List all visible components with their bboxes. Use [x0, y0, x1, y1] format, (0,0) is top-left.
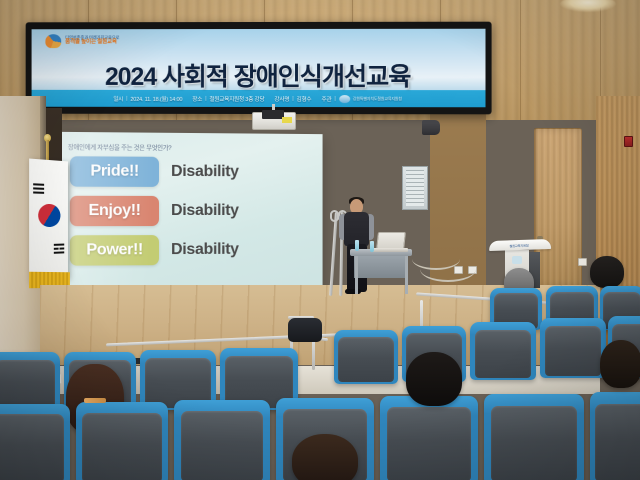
seat[interactable]	[590, 392, 640, 480]
audience-head	[406, 352, 462, 406]
logo-line-2: 품격을 높이는 철원교육	[65, 40, 119, 46]
presenter-shoes	[345, 289, 361, 294]
banner-footer-label-3: 주관	[321, 95, 331, 103]
banner-footer: 일시 | 2024. 11. 18.(월) 14:00 장소 | 철원교육지원청…	[32, 90, 486, 107]
slide-pill-enjoy: Enjoy!!	[70, 196, 159, 226]
banner-sep: |	[205, 95, 206, 101]
table-leg	[355, 256, 358, 294]
banner-screen: 다양성존중과 미래가치교육으로 품격을 높이는 철원교육 2024 사회적 장애…	[32, 29, 486, 108]
table-leg	[405, 256, 408, 294]
floor-bag	[288, 318, 322, 342]
wall-outlet	[578, 258, 587, 266]
education-office-logo-icon	[45, 34, 61, 48]
table-panel	[354, 256, 408, 278]
taegukgi-flag	[29, 159, 68, 282]
auditorium-photo: 다양성존중과 미래가치교육으로 품격을 높이는 철원교육 2024 사회적 장애…	[0, 0, 640, 480]
seat[interactable]	[0, 404, 70, 480]
organizer-logo-icon	[339, 95, 350, 103]
slide-pill-pride: Pride!!	[70, 156, 159, 187]
banner-footer-label-1: 장소	[192, 94, 202, 102]
slide-row: Enjoy!! Disability	[70, 196, 315, 226]
taeguk-symbol-icon	[34, 200, 64, 231]
audience-head	[292, 434, 358, 480]
crutch-left	[329, 212, 338, 296]
water-bottle	[355, 240, 359, 251]
audience-head	[600, 340, 640, 388]
power-cable	[420, 256, 476, 282]
audience-head	[590, 256, 624, 288]
seat[interactable]	[470, 322, 536, 380]
podium-microphone	[512, 256, 522, 264]
slide-label-2: Disability	[171, 241, 239, 259]
slide-question: 장애인에게 자부심을 주는 것은 무엇인가?	[68, 142, 172, 152]
slide-pill-power: Power!!	[70, 235, 159, 266]
slide-label-0: Disability	[171, 163, 239, 181]
banner-title: 2024 사회적 장애인식개선교육	[32, 57, 486, 93]
banner-logo: 다양성존중과 미래가치교육으로 품격을 높이는 철원교육	[45, 34, 119, 48]
seat[interactable]	[540, 318, 606, 378]
door-frame	[534, 128, 582, 288]
banner-footer-value-2: 김형수	[297, 95, 312, 103]
banner-sep: |	[126, 95, 127, 101]
fire-alarm-icon	[624, 136, 633, 147]
slide-rows: Pride!! Disability Enjoy!! Disability Po…	[70, 156, 315, 275]
laptop-keyboard	[372, 248, 408, 252]
wall-speaker-icon	[422, 120, 440, 135]
banner-footer-value-1: 철원교육지원청 3층 강당	[209, 94, 264, 102]
seat[interactable]	[484, 394, 584, 480]
seat[interactable]	[0, 352, 60, 410]
slide-row: Power!! Disability	[70, 235, 315, 266]
slide-row: Pride!! Disability	[70, 156, 315, 187]
projector-body	[262, 110, 284, 119]
projection-screen: 장애인에게 자부심을 주는 것은 무엇인가? Pride!! Disabilit…	[56, 132, 323, 294]
hair-clip	[84, 398, 106, 403]
water-bottle	[370, 241, 374, 252]
banner-footer-label-0: 일시	[113, 94, 123, 102]
seat[interactable]	[334, 330, 398, 384]
banner-sep: |	[292, 96, 293, 102]
banner-sep: |	[334, 96, 335, 102]
led-banner: 다양성존중과 미래가치교육으로 품격을 높이는 철원교육 2024 사회적 장애…	[26, 22, 492, 115]
seat[interactable]	[76, 402, 168, 480]
banner-footer-label-2: 강사명	[274, 95, 289, 103]
air-vent-icon	[402, 166, 428, 210]
banner-footer-value-0: 2024. 11. 18.(월) 14:00	[130, 94, 182, 102]
seat[interactable]	[380, 396, 478, 480]
banner-footer-value-3: 강원특별자치도철원교육지원청	[353, 96, 402, 102]
slide-surface: 장애인에게 자부심을 주는 것은 무엇인가? Pride!! Disabilit…	[56, 132, 323, 294]
slide-label-1: Disability	[171, 202, 239, 220]
projector-label	[282, 117, 292, 123]
seat[interactable]	[174, 400, 270, 480]
